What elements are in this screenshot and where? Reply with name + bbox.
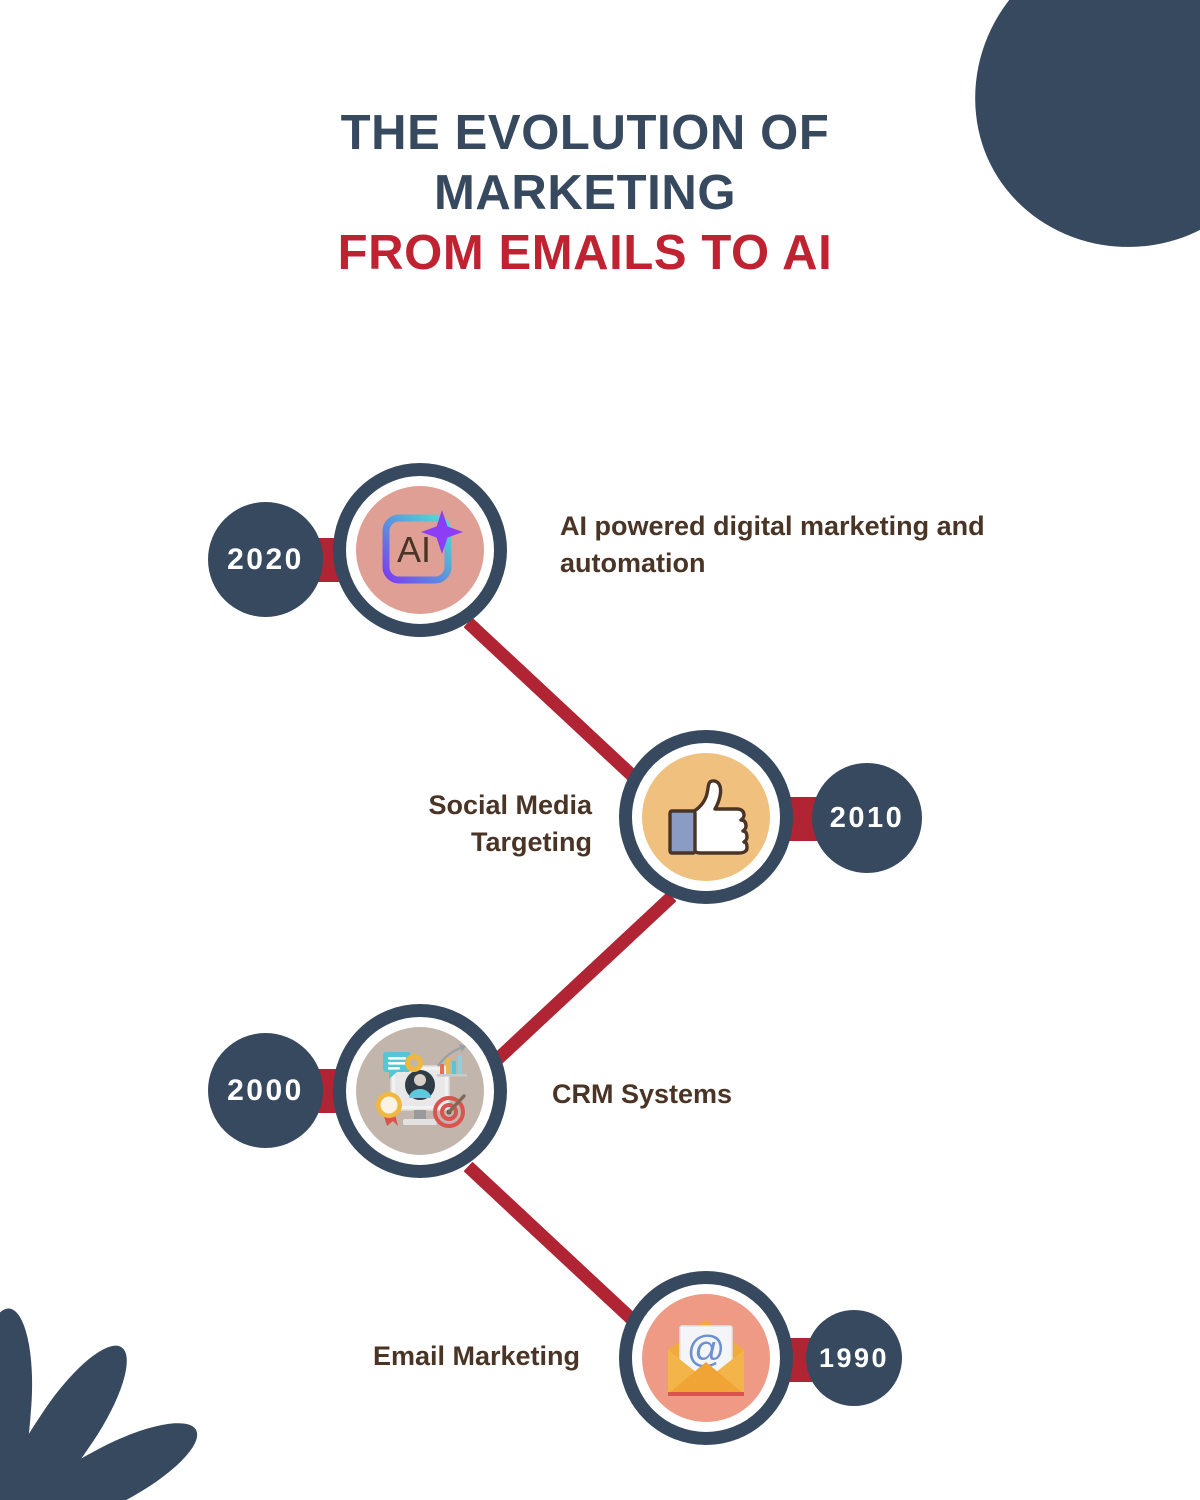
year-badge-2000[interactable]: 2000 [208, 1033, 323, 1148]
email-envelope-glyph: @ [654, 1306, 758, 1410]
milestone-label-2010: Social Media Targeting [340, 787, 592, 860]
timeline: 2020 AI [0, 0, 1200, 1500]
year-badge-2020[interactable]: 2020 [208, 502, 323, 617]
icon-ring-2000[interactable] [333, 1004, 507, 1178]
connector-2010-2000 [486, 892, 676, 1071]
thumbs-up-icon [642, 753, 770, 881]
ai-sparkle-icon: AI [356, 486, 484, 614]
crm-dashboard-glyph [365, 1036, 475, 1146]
year-badge-2010[interactable]: 2010 [812, 763, 922, 873]
icon-ring-1990[interactable]: @ [619, 1271, 793, 1445]
svg-text:AI: AI [397, 529, 431, 570]
milestone-label-2000: CRM Systems [552, 1076, 952, 1113]
icon-ring-2020[interactable]: AI [333, 463, 507, 637]
infographic-canvas: THE EVOLUTION OF MARKETING FROM EMAILS T… [0, 0, 1200, 1500]
connector-2000-1990 [464, 1162, 656, 1342]
ai-sparkle-glyph: AI [368, 498, 472, 602]
crm-dashboard-icon [356, 1027, 484, 1155]
milestone-label-1990: Email Marketing [250, 1338, 580, 1375]
year-badge-label: 2000 [227, 1074, 304, 1108]
year-badge-label: 2020 [227, 543, 304, 577]
connector-2020-2010 [464, 618, 652, 795]
year-badge-1990[interactable]: 1990 [806, 1310, 902, 1406]
thumbs-up-glyph [654, 765, 758, 869]
year-badge-label: 1990 [819, 1343, 889, 1374]
icon-ring-2010[interactable] [619, 730, 793, 904]
milestone-label-2020: AI powered digital marketing and automat… [560, 508, 1000, 581]
year-badge-label: 2010 [830, 802, 905, 835]
email-envelope-icon: @ [642, 1294, 770, 1422]
